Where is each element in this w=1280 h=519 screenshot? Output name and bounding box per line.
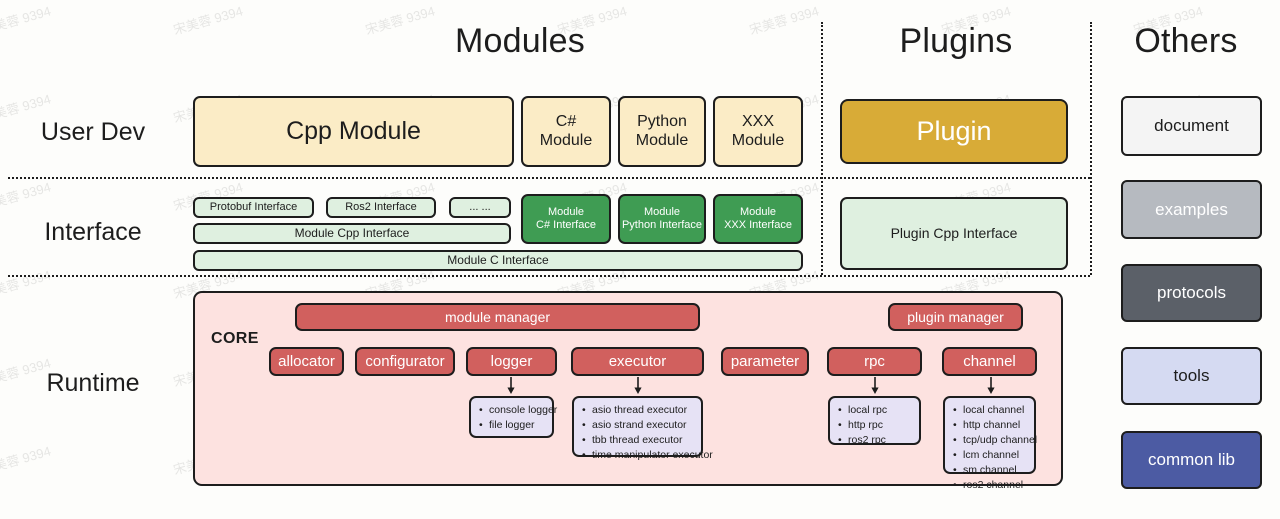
detail-list-logger: console loggerfile logger	[469, 396, 554, 438]
watermark-text: 宋美蓉 9394	[0, 177, 53, 215]
row-label-interface: Interface	[8, 218, 178, 247]
arrow-down-icon-executor	[631, 377, 645, 394]
watermark-text: 宋美蓉 9394	[171, 1, 245, 39]
core-label: CORE	[211, 330, 259, 348]
detail-items-rpc: local rpchttp rpcros2 rpc	[836, 403, 913, 448]
row-divider-userdev-interface	[8, 177, 1090, 179]
interface-box-protobuf[interactable]: Protobuf Interface	[193, 197, 314, 218]
interface-box-plugin-cpp[interactable]: Plugin Cpp Interface	[840, 197, 1068, 270]
core-component-configurator[interactable]: configurator	[355, 347, 455, 376]
detail-item: console logger	[489, 403, 546, 418]
interface-box-module-csharp[interactable]: Module C# Interface	[521, 194, 611, 244]
detail-item: ros2 channel	[963, 478, 1028, 493]
detail-item: asio strand executor	[592, 418, 695, 433]
others-box-protocols[interactable]: protocols	[1121, 264, 1262, 322]
column-title-plugins: Plugins	[826, 22, 1086, 61]
column-divider-modules-plugins	[821, 22, 823, 275]
column-title-modules: Modules	[280, 22, 760, 61]
interface-box-module-cpp[interactable]: Module Cpp Interface	[193, 223, 511, 244]
core-component-parameter[interactable]: parameter	[721, 347, 809, 376]
core-component-logger[interactable]: logger	[466, 347, 557, 376]
core-component-executor[interactable]: executor	[571, 347, 704, 376]
module-box-python[interactable]: Python Module	[618, 96, 706, 167]
detail-list-channel: local channelhttp channeltcp/udp channel…	[943, 396, 1036, 474]
architecture-diagram: 宋美蓉 9394宋美蓉 9394宋美蓉 9394宋美蓉 9394宋美蓉 9394…	[0, 0, 1280, 519]
detail-item: time manipulator executor	[592, 448, 695, 463]
detail-item: file logger	[489, 418, 546, 433]
detail-item: ros2 rpc	[848, 433, 913, 448]
interface-box-module-python[interactable]: Module Python Interface	[618, 194, 706, 244]
watermark-text: 宋美蓉 9394	[0, 265, 53, 303]
detail-item: sm channel	[963, 463, 1028, 478]
watermark-text: 宋美蓉 9394	[0, 441, 53, 479]
interface-box-more[interactable]: ... ...	[449, 197, 511, 218]
core-component-allocator[interactable]: allocator	[269, 347, 344, 376]
arrow-down-icon-rpc	[868, 377, 882, 394]
module-box-csharp[interactable]: C# Module	[521, 96, 611, 167]
plugin-box[interactable]: Plugin	[840, 99, 1068, 164]
detail-list-rpc: local rpchttp rpcros2 rpc	[828, 396, 921, 445]
row-label-user-dev: User Dev	[8, 118, 178, 147]
detail-list-executor: asio thread executorasio strand executor…	[572, 396, 703, 457]
others-box-examples[interactable]: examples	[1121, 180, 1262, 239]
core-component-channel[interactable]: channel	[942, 347, 1037, 376]
detail-items-executor: asio thread executorasio strand executor…	[580, 403, 695, 463]
arrow-down-icon-channel	[984, 377, 998, 394]
detail-item: local channel	[963, 403, 1028, 418]
core-component-rpc[interactable]: rpc	[827, 347, 922, 376]
detail-item: asio thread executor	[592, 403, 695, 418]
row-divider-interface-runtime	[8, 275, 1090, 277]
watermark-text: 宋美蓉 9394	[0, 1, 53, 39]
column-title-others: Others	[1096, 22, 1276, 61]
column-divider-plugins-others	[1090, 22, 1092, 275]
row-label-runtime: Runtime	[8, 369, 178, 398]
detail-item: http rpc	[848, 418, 913, 433]
detail-item: local rpc	[848, 403, 913, 418]
detail-items-logger: console loggerfile logger	[477, 403, 546, 433]
detail-item: lcm channel	[963, 448, 1028, 463]
arrow-down-icon-logger	[504, 377, 518, 394]
detail-items-channel: local channelhttp channeltcp/udp channel…	[951, 403, 1028, 492]
interface-box-module-xxx[interactable]: Module XXX Interface	[713, 194, 803, 244]
others-box-common-lib[interactable]: common lib	[1121, 431, 1262, 489]
interface-box-ros2[interactable]: Ros2 Interface	[326, 197, 436, 218]
interface-box-module-c[interactable]: Module C Interface	[193, 250, 803, 271]
others-box-tools[interactable]: tools	[1121, 347, 1262, 405]
detail-item: tbb thread executor	[592, 433, 695, 448]
detail-item: http channel	[963, 418, 1028, 433]
core-module-manager[interactable]: module manager	[295, 303, 700, 331]
others-box-document[interactable]: document	[1121, 96, 1262, 156]
core-plugin-manager[interactable]: plugin manager	[888, 303, 1023, 331]
module-box-xxx[interactable]: XXX Module	[713, 96, 803, 167]
module-box-cpp[interactable]: Cpp Module	[193, 96, 514, 167]
detail-item: tcp/udp channel	[963, 433, 1028, 448]
